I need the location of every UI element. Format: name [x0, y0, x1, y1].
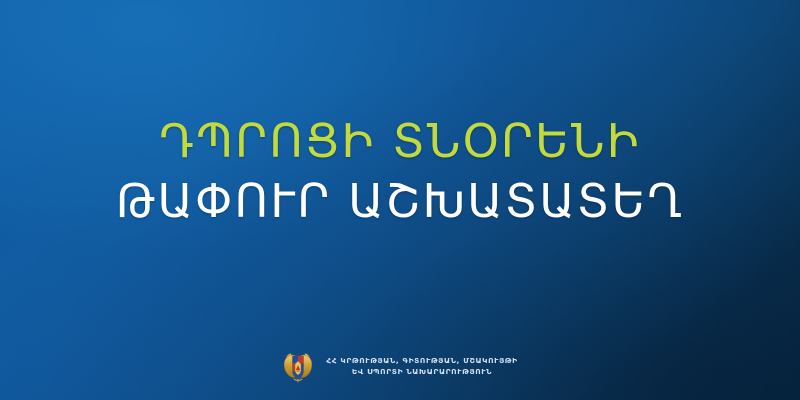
- ministry-name-line-2: ԵՎ ՍՊՈՐՏԻ ՆԱԽԱՐԱՐՈՒԹՅՈՒՆ: [326, 366, 517, 377]
- ministry-name: ՀՀ ԿՐԹՈՒԹՅԱՆ, ԳԻՏՈՒԹՅԱՆ, ՄՇԱԿՈՒՅԹԻ ԵՎ ՍՊ…: [326, 355, 517, 378]
- ministry-lockup: ՀՀ ԿՐԹՈՒԹՅԱՆ, ԳԻՏՈՒԹՅԱՆ, ՄՇԱԿՈՒՅԹԻ ԵՎ ՍՊ…: [0, 338, 800, 394]
- armenia-coat-of-arms-icon: [282, 349, 314, 383]
- headline-block: ԴՊՐՈՑԻ ՏՆՕՐԵՆԻ ԹԱՓՈՒՐ ԱՇԽԱՏԱՏԵՂ: [0, 118, 800, 224]
- headline-line-1: ԴՊՐՈՑԻ ՏՆՕՐԵՆԻ: [0, 118, 800, 164]
- ministry-name-line-1: ՀՀ ԿՐԹՈՒԹՅԱՆ, ԳԻՏՈՒԹՅԱՆ, ՄՇԱԿՈՒՅԹԻ: [326, 355, 517, 366]
- vacancy-announcement-banner: ԴՊՐՈՑԻ ՏՆՕՐԵՆԻ ԹԱՓՈՒՐ ԱՇԽԱՏԱՏԵՂ: [0, 0, 800, 400]
- headline-line-2: ԹԱՓՈՒՐ ԱՇԽԱՏԱՏԵՂ: [0, 178, 800, 224]
